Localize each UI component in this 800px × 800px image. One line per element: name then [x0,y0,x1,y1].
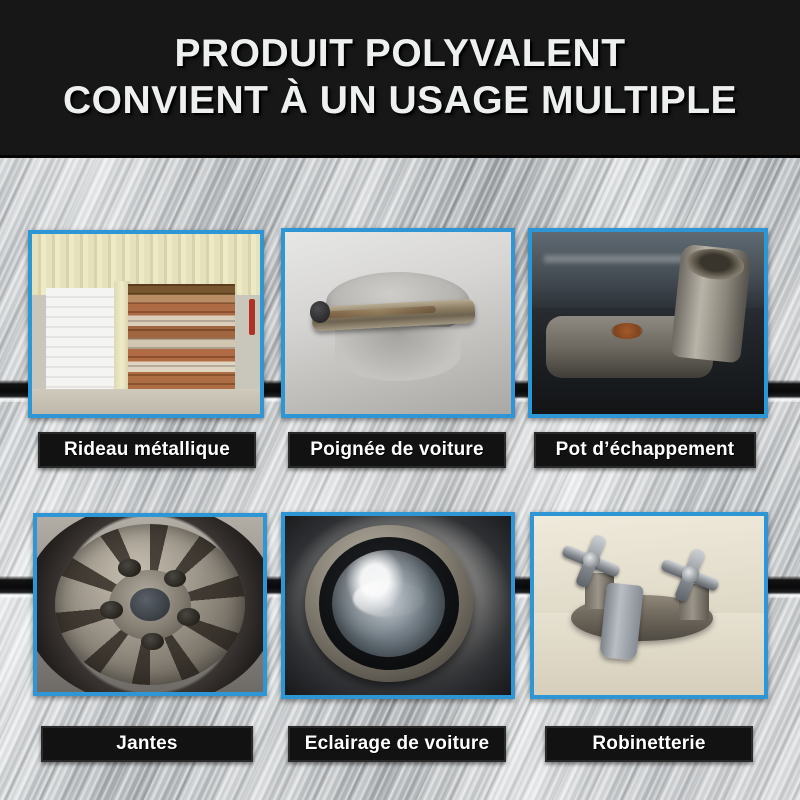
exhaust-pipe-image [532,232,764,414]
alloy-wheel-rim-image [37,517,263,692]
promo-poster: PRODUIT POLYVALENT CONVIENT À UN USAGE M… [0,0,800,800]
caption-eclairage-de-voiture: Eclairage de voiture [288,726,506,762]
caption-text: Rideau métallique [64,439,230,461]
grid-cell-robinetterie[interactable] [530,512,768,699]
caption-text: Jantes [116,733,177,755]
caption-jantes: Jantes [41,726,253,762]
photo-frame [28,230,264,418]
photo-frame [530,512,768,699]
photo-frame [281,512,515,699]
grid-cell-pot-dechappement[interactable] [528,228,768,418]
grid-cell-poignee-de-voiture[interactable] [281,228,515,418]
caption-robinetterie: Robinetterie [545,726,753,762]
photo-frame [528,228,768,418]
caption-text: Eclairage de voiture [305,733,490,755]
photo-frame [281,228,515,418]
caption-text: Pot d’échappement [556,439,735,461]
caption-text: Robinetterie [592,733,705,755]
caption-text: Poignée de voiture [310,439,484,461]
caption-pot-dechappement: Pot d’échappement [534,432,756,468]
grid-cell-rideau-metallique[interactable] [28,230,264,418]
product-use-grid: Rideau métallique Poignée de voiture [0,0,800,800]
car-fog-lamp-image [285,516,511,695]
caption-poignee-de-voiture: Poignée de voiture [288,432,506,468]
caption-rideau-metallique: Rideau métallique [38,432,256,468]
car-door-handle-image [285,232,511,414]
rusty-rolling-shutter-image [32,234,260,414]
grid-cell-jantes[interactable] [33,513,267,696]
photo-frame [33,513,267,696]
grid-cell-eclairage-de-voiture[interactable] [281,512,515,699]
bathroom-faucet-image [534,516,764,695]
